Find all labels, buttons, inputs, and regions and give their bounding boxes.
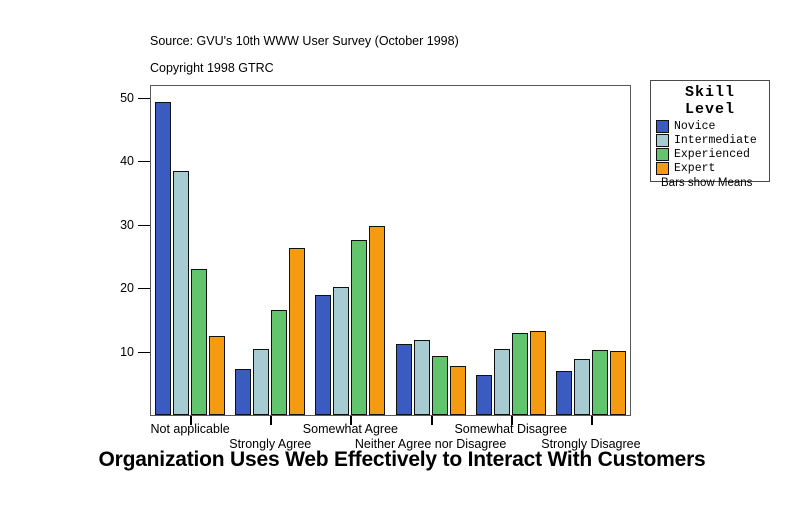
y-axis-tick-label: 10: [120, 345, 134, 359]
legend-footnote: Bars show Means: [661, 177, 752, 189]
x-axis-tick-label: Somewhat Disagree: [454, 422, 567, 436]
y-axis: Percent 1020304050: [103, 85, 150, 416]
bar: [432, 356, 448, 415]
y-axis-tick: [138, 225, 150, 226]
bar-group: [230, 85, 310, 415]
legend-item: Expert: [656, 162, 764, 175]
bar-group: [551, 85, 631, 415]
bar: [476, 375, 492, 415]
legend-item-label: Novice: [674, 120, 715, 133]
y-axis-tick: [138, 288, 150, 289]
x-axis-tick-label: Somewhat Agree: [303, 422, 398, 436]
legend-item-label: Experienced: [674, 148, 750, 161]
legend-item: Experienced: [656, 148, 764, 161]
legend-title: Skill Level: [656, 84, 764, 118]
y-axis-tick-label: 20: [120, 281, 134, 295]
bar: [450, 366, 466, 416]
bar-group: [471, 85, 551, 415]
bar: [289, 248, 305, 415]
bar: [512, 333, 528, 416]
bar: [530, 331, 546, 415]
bar: [253, 349, 269, 415]
legend-swatch-icon: [656, 120, 669, 133]
legend-rows: NoviceIntermediateExperiencedExpert: [656, 120, 764, 175]
bar: [556, 371, 572, 415]
legend-swatch-icon: [656, 148, 669, 161]
legend-item-label: Expert: [674, 162, 715, 175]
legend-swatch-icon: [656, 162, 669, 175]
x-axis-tick: [431, 416, 433, 425]
bar: [315, 295, 331, 415]
y-axis-tick: [138, 161, 150, 162]
bar: [610, 351, 626, 415]
x-axis-tick: [591, 416, 593, 425]
y-axis-tick-label: 50: [120, 91, 134, 105]
legend-item-label: Intermediate: [674, 134, 757, 147]
bar-group: [391, 85, 471, 415]
y-axis-tick-label: 40: [120, 154, 134, 168]
bar: [271, 310, 287, 415]
bar: [494, 349, 510, 415]
bar: [209, 336, 225, 415]
chart-page: Source: GVU's 10th WWW User Survey (Octo…: [0, 0, 804, 510]
legend-swatch-icon: [656, 134, 669, 147]
bar: [173, 171, 189, 415]
bar: [369, 226, 385, 415]
bar: [191, 269, 207, 415]
legend: Skill Level NoviceIntermediateExperience…: [650, 80, 770, 182]
chart-title: Organization Uses Web Effectively to Int…: [0, 448, 804, 472]
bar-group: [150, 85, 230, 415]
legend-item: Intermediate: [656, 134, 764, 147]
bar: [351, 240, 367, 415]
bar: [396, 344, 412, 415]
bar: [592, 350, 608, 415]
y-axis-tick: [138, 98, 150, 99]
bar: [155, 102, 171, 415]
legend-item: Novice: [656, 120, 764, 133]
y-axis-tick: [138, 352, 150, 353]
bar-group: [310, 85, 390, 415]
bar: [574, 359, 590, 415]
y-axis-tick-label: 30: [120, 218, 134, 232]
source-note: Source: GVU's 10th WWW User Survey (Octo…: [150, 34, 459, 48]
bar: [414, 340, 430, 415]
copyright-note: Copyright 1998 GTRC: [150, 61, 274, 75]
bar: [333, 287, 349, 415]
x-axis-tick-label: Not applicable: [150, 422, 229, 436]
bar: [235, 369, 251, 415]
bar-series-layer: [150, 85, 631, 415]
x-axis-tick: [270, 416, 272, 425]
